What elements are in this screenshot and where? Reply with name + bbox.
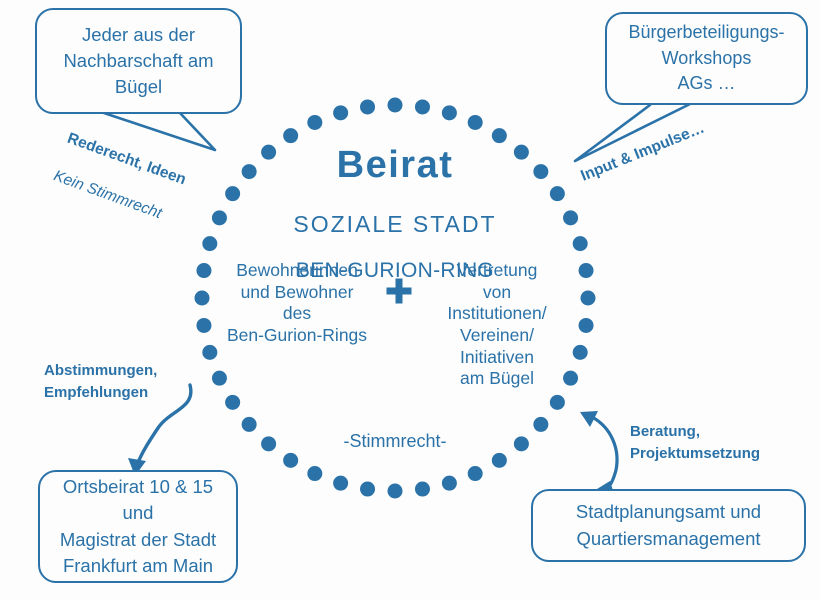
ring-dot	[388, 98, 403, 113]
ring-dot	[225, 395, 240, 410]
ring-dot	[514, 436, 529, 451]
ring-dot	[492, 453, 507, 468]
ring-dot	[442, 476, 457, 491]
ring-dot	[202, 345, 217, 360]
ring-dot	[533, 417, 548, 432]
ring-dot	[388, 484, 403, 499]
ring-dot	[242, 417, 257, 432]
ring-dot	[415, 99, 430, 114]
ring-dot	[212, 371, 227, 386]
page-title: Beirat	[195, 146, 595, 186]
callout-stadtplanungsamt[interactable]: Stadtplanungsamt und Quartiersmanagement	[531, 489, 806, 562]
callout-neighbourhood[interactable]: Jeder aus der Nachbarschaft am Bügel	[35, 8, 242, 114]
callout-ortsbeirat-magistrat[interactable]: Ortsbeirat 10 & 15 und Magistrat der Sta…	[38, 470, 238, 583]
ring-dot	[468, 466, 483, 481]
ring-dot	[360, 482, 375, 497]
page-subtitle-1: SOZIALE STADT	[195, 212, 595, 237]
center-column-residents: Bewohnerinnen und Bewohner des Ben-Gurio…	[212, 260, 382, 347]
ring-dot	[442, 105, 457, 120]
ring-dot	[579, 318, 594, 333]
center-voting-note: -Stimmrecht-	[285, 430, 505, 452]
ring-dot	[283, 453, 298, 468]
ring-dot	[196, 318, 211, 333]
connector-label-beratung-bold: Beratung, Projektumsetzung	[630, 421, 800, 465]
diagram-canvas: Beirat SOZIALE STADT BEN-GURION-RING Bew…	[0, 0, 820, 600]
ring-dot	[360, 99, 375, 114]
ring-dot	[573, 345, 588, 360]
ring-dot	[415, 482, 430, 497]
ring-dot	[550, 395, 565, 410]
ring-dot	[333, 105, 348, 120]
ring-dot	[307, 466, 322, 481]
ring-dot	[261, 436, 276, 451]
ring-dot	[333, 476, 348, 491]
arrow-bottom-right	[580, 411, 617, 497]
plus-icon	[384, 276, 414, 306]
callout-participation-formats[interactable]: Bürgerbeteiligungs- Workshops AGs …	[605, 12, 808, 105]
connector-label-abstimmungen: Abstimmungen, Empfehlungen	[44, 360, 194, 404]
center-column-institutions: Vertretung von Institutionen/ Vereinen/ …	[422, 260, 572, 390]
